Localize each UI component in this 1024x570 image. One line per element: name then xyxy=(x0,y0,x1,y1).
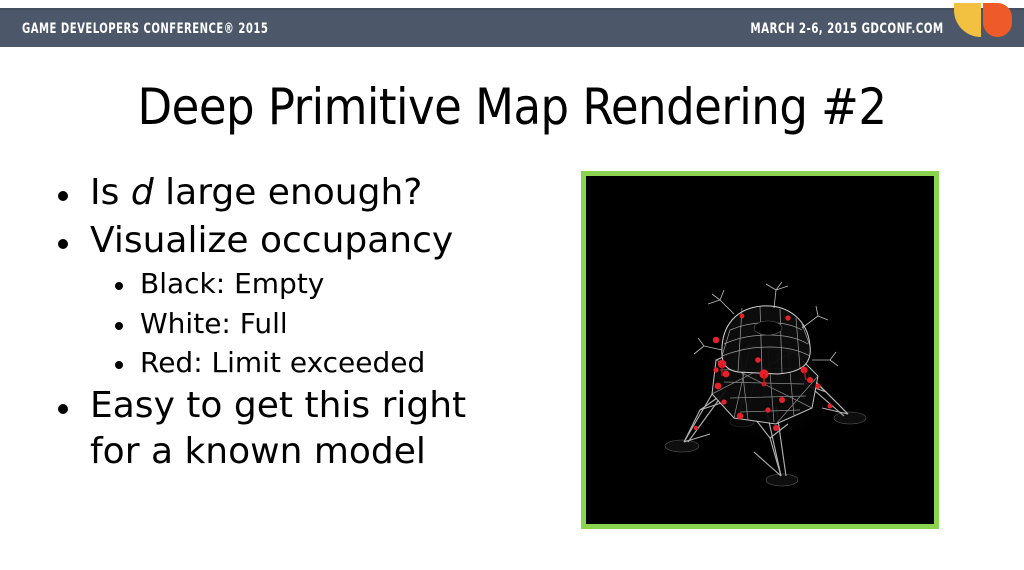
bullet-item-white-full: White: Full xyxy=(58,305,558,342)
gdc-logo-orange-shape-icon xyxy=(983,3,1012,37)
bullet-text-emphasis: d xyxy=(131,172,154,213)
bullet-dot-icon xyxy=(115,322,123,330)
occupancy-visualization-figure xyxy=(581,171,939,529)
bullet-dot-icon xyxy=(58,404,68,414)
bullet-item-black-empty: Black: Empty xyxy=(58,265,558,302)
bullet-text-suffix: large enough? xyxy=(154,172,423,213)
bullet-text: Black: Empty xyxy=(140,265,324,302)
bullet-item-easy-to-get-this-right: Easy to get this rightfor a known model xyxy=(58,383,558,474)
conference-name-label: GAME DEVELOPERS CONFERENCE® 2015 xyxy=(22,21,268,37)
bullet-item-visualize-occupancy: Visualize occupancy xyxy=(58,218,558,264)
bullet-dot-icon xyxy=(58,239,68,249)
bullet-dot-icon xyxy=(115,361,123,369)
conference-header-bar: GAME DEVELOPERS CONFERENCE® 2015 MARCH 2… xyxy=(0,8,1024,47)
bullet-text-line-2: for a known model xyxy=(90,431,426,472)
bullet-text-line-1: Easy to get this right xyxy=(90,385,466,426)
bullet-item-red-limit-exceeded: Red: Limit exceeded xyxy=(58,344,558,381)
conference-dates-and-url-label: MARCH 2-6, 2015 GDCONF.COM xyxy=(751,21,944,37)
bullet-text: Easy to get this rightfor a known model xyxy=(90,383,466,474)
gdc-logo-yellow-shape-icon xyxy=(954,3,981,37)
bullet-text: Red: Limit exceeded xyxy=(140,344,425,381)
bullet-dot-icon xyxy=(115,282,123,290)
slide-bullet-list: Is d large enough? Visualize occupancy B… xyxy=(58,170,558,477)
bullet-text-prefix: Is xyxy=(90,172,131,213)
bullet-text: White: Full xyxy=(140,305,288,342)
slide-title: Deep Primitive Map Rendering #2 xyxy=(0,78,1024,136)
gdc-logo-icon xyxy=(954,3,1012,37)
bullet-item-is-d-large-enough: Is d large enough? xyxy=(58,170,558,216)
lunar-module-wireframe-render xyxy=(586,176,934,524)
bullet-text: Is d large enough? xyxy=(90,170,422,216)
bullet-dot-icon xyxy=(58,191,68,201)
bullet-text: Visualize occupancy xyxy=(90,218,453,264)
